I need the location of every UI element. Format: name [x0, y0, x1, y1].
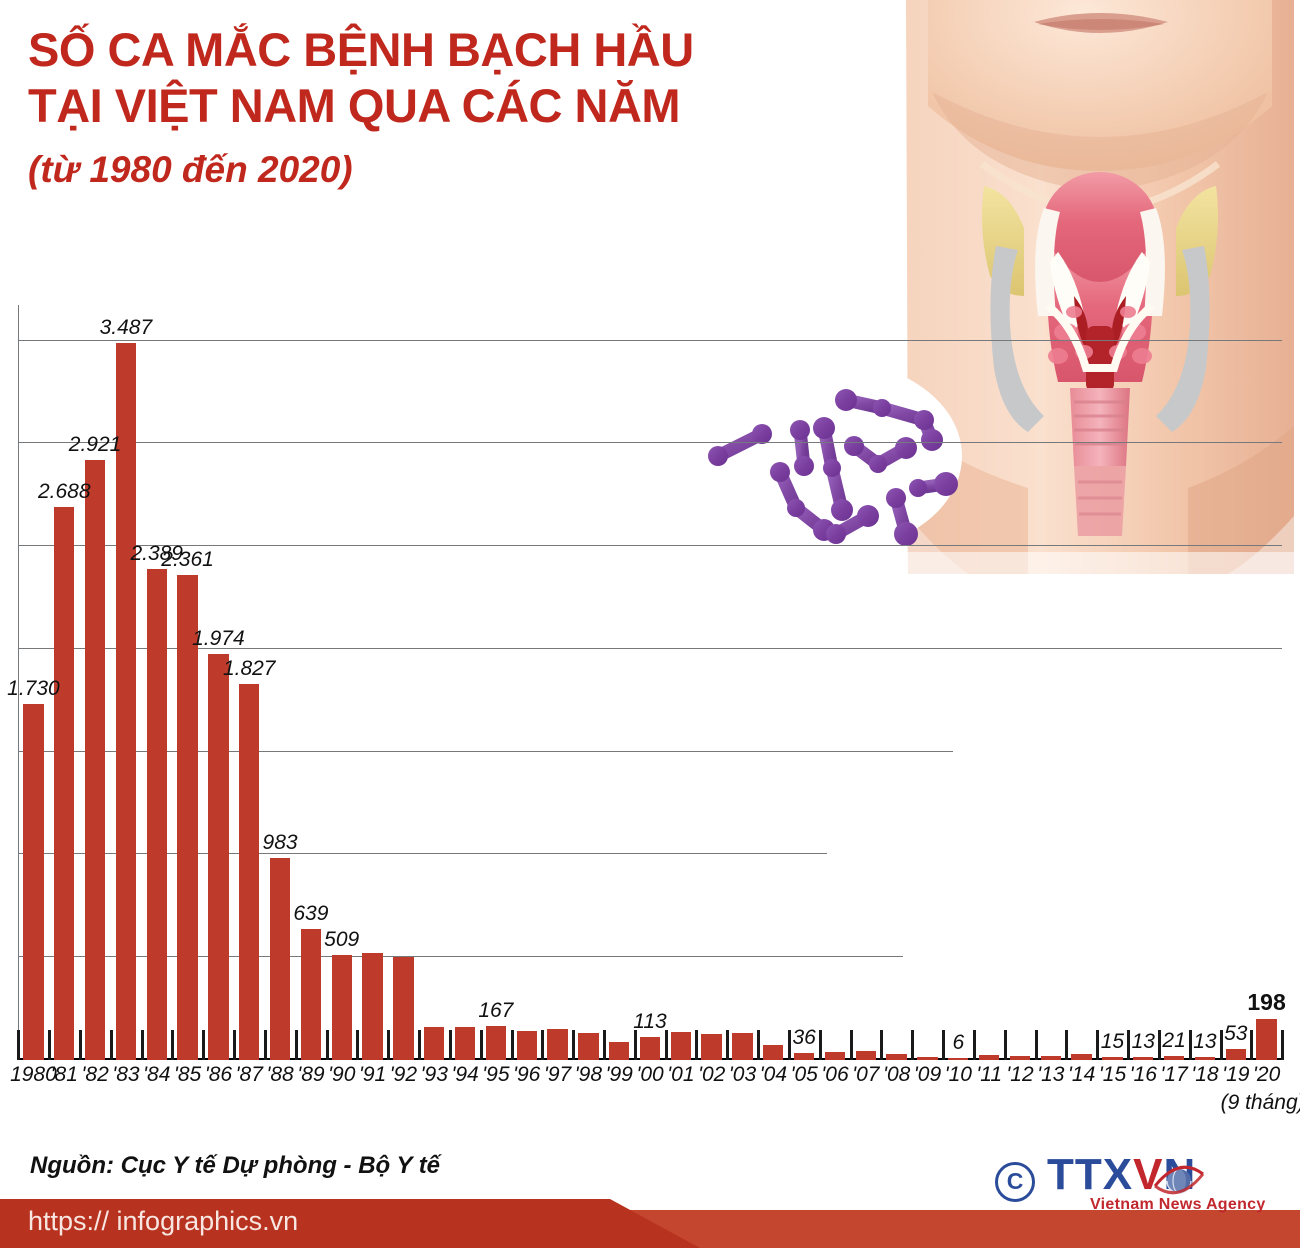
bar-value-label: 2.688 — [24, 480, 104, 504]
bar — [208, 654, 228, 1060]
x-tick — [1035, 1030, 1038, 1060]
bar — [486, 1026, 506, 1060]
x-tick — [295, 1030, 298, 1060]
gridline — [18, 853, 827, 854]
bar — [1041, 1056, 1061, 1060]
bar — [424, 1027, 444, 1060]
bar-chart: 1.7302.6882.9213.4872.3892.3611.9741.827… — [0, 290, 1300, 1130]
bar — [794, 1053, 814, 1060]
bar — [640, 1037, 660, 1060]
bar — [732, 1033, 752, 1060]
bar-value-label: 1.827 — [209, 657, 289, 681]
x-tick — [1281, 1030, 1284, 1060]
gridline — [18, 442, 1282, 443]
bar — [23, 704, 43, 1060]
bar-value-label: 36 — [764, 1026, 844, 1050]
bar — [1133, 1057, 1153, 1060]
bar-value-label: 113 — [610, 1010, 690, 1034]
bar — [270, 858, 290, 1060]
x-tick — [171, 1030, 174, 1060]
x-tick — [141, 1030, 144, 1060]
x-tick — [665, 1030, 668, 1060]
bar — [701, 1034, 721, 1060]
x-tick — [850, 1030, 853, 1060]
bar-value-label: 198 — [1227, 989, 1300, 1016]
copyright-icon: C — [995, 1162, 1035, 1202]
bar — [393, 957, 413, 1060]
bar — [979, 1055, 999, 1060]
bar — [1102, 1057, 1122, 1060]
x-tick — [634, 1030, 637, 1060]
bar — [517, 1031, 537, 1060]
logo-subtitle: Vietnam News Agency — [1090, 1196, 1266, 1214]
ttxvn-logo[interactable]: C TTXVN Vietnam News Agency — [995, 1152, 1285, 1214]
bar — [332, 955, 352, 1060]
x-tick — [202, 1030, 205, 1060]
x-tick — [480, 1030, 483, 1060]
bar-value-label: 2.361 — [148, 548, 228, 572]
bar-value-label: 53 — [1196, 1022, 1276, 1046]
x-tick — [541, 1030, 544, 1060]
bar — [147, 569, 167, 1060]
bar — [578, 1033, 598, 1060]
x-tick — [264, 1030, 267, 1060]
bar — [609, 1042, 629, 1061]
bar-value-label: 3.487 — [86, 316, 166, 340]
bar-value-label: 1.730 — [0, 677, 73, 701]
bar — [825, 1052, 845, 1060]
x-tick — [880, 1030, 883, 1060]
bar — [1071, 1054, 1091, 1060]
header: SỐ CA MẮC BỆNH BẠCH HẦU TẠI VIỆT NAM QUA… — [0, 0, 1300, 282]
x-axis-label: '20 — [1237, 1063, 1297, 1087]
x-tick — [726, 1030, 729, 1060]
x-tick — [79, 1030, 82, 1060]
gridline — [18, 545, 1282, 546]
bar-value-label: 639 — [271, 902, 351, 926]
globe-icon — [1153, 1160, 1205, 1200]
bar — [948, 1058, 968, 1060]
gridline — [18, 340, 1282, 341]
x-tick — [911, 1030, 914, 1060]
logo-tt: TT — [1047, 1150, 1103, 1199]
bar — [1010, 1056, 1030, 1060]
x-tick — [326, 1030, 329, 1060]
logo-x: X — [1103, 1150, 1133, 1199]
bar — [886, 1054, 906, 1060]
bar-value-label: 167 — [456, 999, 536, 1023]
bar — [54, 507, 74, 1060]
bar-value-label: 509 — [302, 928, 382, 952]
x-tick — [418, 1030, 421, 1060]
x-tick — [387, 1030, 390, 1060]
page-title-line-1: SỐ CA MẮC BỆNH BẠCH HẦU — [28, 22, 908, 78]
bar — [547, 1029, 567, 1060]
bar-value-label: 2.921 — [55, 433, 135, 457]
plot-area: 1.7302.6882.9213.4872.3892.3611.9741.827… — [18, 305, 1282, 1060]
page-subtitle: (từ 1980 đến 2020) — [28, 148, 908, 192]
bar — [671, 1032, 691, 1060]
bar — [856, 1051, 876, 1060]
bar — [455, 1027, 475, 1060]
x-tick — [511, 1030, 514, 1060]
x-tick — [449, 1030, 452, 1060]
x-tick — [110, 1030, 113, 1060]
x-tick — [356, 1030, 359, 1060]
x-tick — [1065, 1030, 1068, 1060]
x-tick — [233, 1030, 236, 1060]
bar-value-label: 1.974 — [178, 627, 258, 651]
bar — [917, 1057, 937, 1060]
bar — [1195, 1057, 1215, 1060]
bar — [239, 684, 259, 1060]
bar — [1164, 1056, 1184, 1060]
page-title-line-2: TẠI VIỆT NAM QUA CÁC NĂM — [28, 78, 908, 134]
bar-value-label: 983 — [240, 831, 320, 855]
x-tick — [603, 1030, 606, 1060]
footer-url[interactable]: https:// infographics.vn — [28, 1206, 298, 1237]
x-tick — [1004, 1030, 1007, 1060]
chart-note: (9 tháng) — [1221, 1091, 1300, 1115]
x-tick — [17, 1030, 20, 1060]
x-tick — [695, 1030, 698, 1060]
x-tick — [757, 1030, 760, 1060]
x-tick — [572, 1030, 575, 1060]
title-block: SỐ CA MẮC BỆNH BẠCH HẦU TẠI VIỆT NAM QUA… — [28, 22, 908, 192]
source-text: Nguồn: Cục Y tế Dự phòng - Bộ Y tế — [30, 1152, 440, 1180]
bar-value-label: 6 — [918, 1031, 998, 1055]
bar — [85, 460, 105, 1060]
bar — [362, 953, 382, 1060]
x-tick — [48, 1030, 51, 1060]
